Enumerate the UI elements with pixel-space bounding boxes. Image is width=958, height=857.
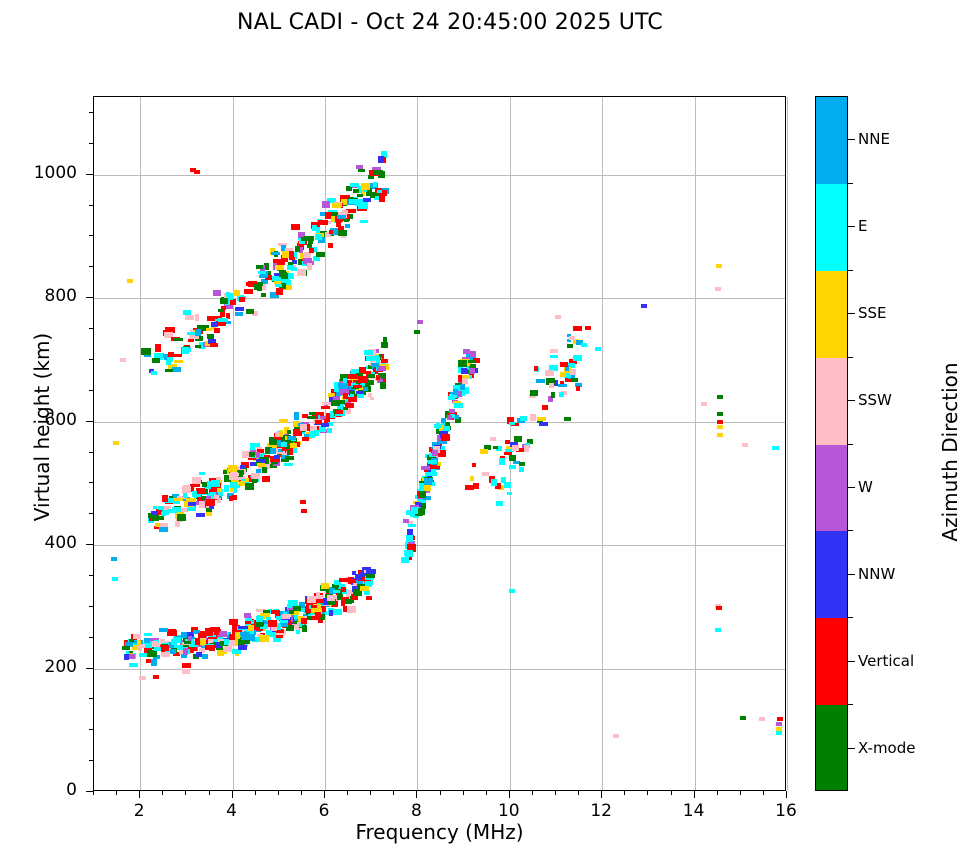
- y-tick: [86, 297, 93, 298]
- data-point: [449, 409, 455, 413]
- data-point: [183, 310, 191, 314]
- data-point: [333, 585, 340, 588]
- data-point: [357, 194, 363, 197]
- data-point: [381, 373, 386, 379]
- colorbar[interactable]: [815, 96, 848, 791]
- x-tick-minor: [393, 791, 394, 795]
- data-point: [512, 445, 520, 451]
- data-point: [275, 284, 282, 287]
- data-point: [152, 358, 160, 362]
- data-point: [381, 359, 388, 363]
- data-point: [313, 256, 320, 261]
- data-point: [777, 717, 783, 721]
- data-point: [536, 379, 545, 383]
- data-point: [514, 436, 523, 442]
- data-point: [493, 446, 498, 449]
- data-point: [256, 616, 263, 622]
- data-point: [257, 463, 264, 467]
- data-point: [345, 599, 352, 604]
- data-point: [259, 275, 267, 278]
- x-tick: [139, 791, 140, 798]
- data-point: [151, 659, 157, 666]
- data-point: [202, 654, 208, 659]
- data-point: [715, 287, 721, 291]
- data-point: [307, 416, 314, 420]
- data-point: [309, 248, 314, 253]
- data-point: [331, 400, 340, 406]
- data-point: [545, 370, 554, 376]
- data-point: [312, 225, 317, 231]
- colorbar-segment-vertical[interactable]: [816, 618, 847, 705]
- data-point: [491, 479, 498, 486]
- data-point: [133, 634, 141, 639]
- data-point: [555, 315, 561, 319]
- y-axis-title: Virtual height (km): [30, 267, 54, 587]
- data-point: [542, 405, 548, 410]
- data-point: [560, 362, 568, 367]
- data-point: [195, 345, 201, 348]
- data-point: [321, 423, 329, 427]
- x-tick-minor: [209, 791, 210, 795]
- data-point: [564, 417, 571, 421]
- data-point: [366, 573, 375, 577]
- data-point: [182, 347, 189, 354]
- data-point: [375, 355, 379, 360]
- y-tick: [86, 791, 93, 792]
- data-point: [329, 230, 333, 234]
- data-point: [315, 612, 321, 618]
- data-point: [519, 462, 525, 466]
- data-point: [309, 412, 316, 416]
- data-point: [151, 515, 159, 522]
- data-point: [172, 367, 181, 372]
- data-point: [322, 402, 331, 405]
- data-point: [182, 663, 191, 668]
- data-point: [185, 315, 193, 319]
- data-point: [279, 430, 283, 436]
- data-point: [717, 425, 723, 429]
- x-axis-title: Frequency (MHz): [93, 820, 786, 844]
- y-tick-minor: [89, 760, 93, 761]
- data-point: [316, 592, 320, 599]
- data-point: [321, 583, 328, 589]
- y-tick-minor: [89, 390, 93, 391]
- data-point: [129, 654, 135, 659]
- data-point: [300, 424, 307, 431]
- y-tick-label: 0: [17, 780, 77, 800]
- data-point: [613, 734, 619, 738]
- data-point: [509, 422, 516, 426]
- data-point: [158, 506, 164, 510]
- data-point: [154, 647, 161, 651]
- data-point: [224, 485, 229, 492]
- data-point: [379, 196, 386, 202]
- data-point: [155, 523, 160, 527]
- x-tick: [509, 791, 510, 798]
- data-point: [366, 569, 376, 574]
- data-point: [262, 467, 268, 473]
- data-point: [366, 596, 372, 600]
- data-point: [378, 156, 383, 163]
- data-point: [211, 480, 220, 487]
- data-point: [327, 428, 332, 433]
- x-tick-minor: [301, 791, 302, 795]
- plot-area[interactable]: [93, 96, 786, 791]
- data-point: [343, 393, 348, 399]
- colorbar-label-x-mode: X-mode: [858, 739, 915, 757]
- ionogram-plot-page: NAL CADI - Oct 24 20:45:00 2025 UTC 2468…: [0, 0, 958, 857]
- x-tick-label: 4: [202, 801, 262, 821]
- data-point: [205, 628, 212, 635]
- colorbar-tick: [848, 400, 855, 401]
- x-tick-minor: [763, 791, 764, 795]
- data-point: [175, 521, 179, 527]
- data-point: [232, 495, 236, 500]
- colorbar-label-nne: NNE: [858, 130, 890, 148]
- colorbar-tick: [848, 748, 855, 749]
- x-tick-label: 2: [109, 801, 169, 821]
- x-tick-minor: [162, 791, 163, 795]
- y-tick: [86, 544, 93, 545]
- data-point: [315, 234, 322, 240]
- data-point: [530, 390, 538, 396]
- data-point: [573, 355, 581, 362]
- data-point: [337, 215, 346, 219]
- data-point: [373, 170, 383, 176]
- x-tick-minor: [532, 791, 533, 795]
- data-point: [595, 347, 601, 351]
- data-point: [431, 469, 436, 475]
- data-point: [473, 483, 479, 489]
- y-tick-minor: [89, 482, 93, 483]
- data-point: [307, 263, 313, 270]
- colorbar-boundary-tick: [848, 704, 853, 705]
- x-tick-minor: [717, 791, 718, 795]
- data-point: [381, 342, 389, 348]
- data-point: [195, 314, 199, 321]
- data-point: [174, 338, 183, 342]
- data-point: [200, 639, 206, 645]
- data-point: [539, 422, 548, 426]
- data-point: [363, 198, 371, 202]
- data-point: [195, 329, 201, 336]
- data-point: [261, 293, 266, 297]
- data-point: [295, 246, 300, 253]
- data-point: [432, 450, 438, 456]
- data-point: [239, 297, 245, 301]
- data-point: [285, 456, 293, 460]
- data-point: [370, 397, 375, 400]
- data-point: [177, 514, 186, 520]
- data-point: [447, 415, 452, 421]
- data-point: [418, 508, 425, 515]
- data-point: [182, 669, 191, 674]
- data-point: [249, 452, 255, 457]
- data-point: [353, 189, 358, 192]
- data-point: [173, 501, 181, 505]
- data-point: [229, 619, 237, 626]
- x-tick-minor: [555, 791, 556, 795]
- data-point: [256, 452, 260, 458]
- data-point: [368, 374, 375, 378]
- data-point: [160, 645, 169, 651]
- data-point: [520, 416, 527, 420]
- data-point: [358, 169, 365, 172]
- data-point: [319, 426, 326, 431]
- data-point: [196, 513, 205, 518]
- data-point: [230, 472, 238, 479]
- data-point: [338, 230, 347, 237]
- data-point: [235, 312, 243, 316]
- x-tick: [694, 791, 695, 798]
- y-tick: [86, 668, 93, 669]
- colorbar-segment-sse[interactable]: [816, 271, 847, 358]
- data-point: [228, 465, 236, 472]
- data-point: [550, 349, 558, 353]
- data-point: [716, 606, 722, 610]
- data-point: [276, 288, 283, 294]
- data-point: [207, 334, 214, 339]
- data-point: [205, 645, 212, 650]
- data-point: [370, 193, 375, 198]
- y-tick-minor: [89, 729, 93, 730]
- data-point: [509, 455, 516, 462]
- data-point: [380, 382, 386, 389]
- x-tick-label: 8: [386, 801, 446, 821]
- data-point: [316, 252, 325, 256]
- data-point: [297, 269, 307, 276]
- data-point: [501, 477, 506, 483]
- data-point: [315, 420, 322, 424]
- data-point: [560, 372, 566, 377]
- y-tick-label: 200: [17, 657, 77, 677]
- data-point: [184, 641, 190, 644]
- data-point: [218, 309, 223, 313]
- x-tick: [324, 791, 325, 798]
- data-point: [405, 553, 413, 557]
- data-point: [537, 417, 546, 421]
- data-point: [285, 248, 293, 252]
- data-point: [366, 356, 375, 361]
- data-point: [509, 465, 517, 469]
- x-tick-minor: [647, 791, 648, 795]
- data-point: [287, 430, 292, 434]
- data-point: [469, 368, 475, 374]
- data-point: [742, 443, 748, 447]
- x-tick-minor: [278, 791, 279, 795]
- data-point: [287, 436, 296, 440]
- data-point: [153, 675, 159, 679]
- data-point: [759, 717, 765, 721]
- data-point: [251, 473, 259, 479]
- data-point: [550, 355, 558, 359]
- data-point: [454, 403, 463, 408]
- y-tick-minor: [89, 575, 93, 576]
- data-point: [210, 343, 218, 348]
- data-point: [772, 446, 778, 450]
- data-point: [301, 509, 307, 513]
- data-point: [424, 478, 432, 485]
- colorbar-boundary-tick: [848, 530, 853, 531]
- colorbar-segment-nnw[interactable]: [816, 531, 847, 618]
- data-point: [159, 516, 164, 520]
- x-tick-label: 14: [664, 801, 724, 821]
- data-point: [458, 360, 467, 367]
- data-point: [262, 476, 270, 482]
- colorbar-segment-w[interactable]: [816, 445, 847, 532]
- colorbar-tick: [848, 313, 855, 314]
- x-tick-minor: [578, 791, 579, 795]
- y-tick-minor: [89, 205, 93, 206]
- data-point: [218, 318, 228, 323]
- data-point: [496, 501, 503, 506]
- x-tick: [232, 791, 233, 798]
- data-point: [414, 330, 420, 334]
- data-point: [322, 201, 330, 208]
- data-point: [371, 363, 380, 366]
- data-point: [274, 455, 279, 458]
- data-point: [186, 498, 196, 502]
- data-point: [112, 577, 118, 581]
- data-point: [344, 219, 349, 222]
- data-point: [321, 406, 330, 409]
- y-tick-minor: [89, 637, 93, 638]
- colorbar-boundary-tick: [848, 617, 853, 618]
- data-point: [122, 646, 130, 651]
- data-point: [401, 557, 408, 563]
- data-point: [238, 645, 247, 650]
- data-point: [469, 351, 475, 357]
- y-tick-minor: [89, 235, 93, 236]
- data-point: [468, 360, 476, 364]
- data-point: [140, 644, 145, 647]
- x-tick-minor: [255, 791, 256, 795]
- x-tick-minor: [370, 791, 371, 795]
- data-point: [490, 437, 496, 441]
- data-point: [241, 636, 249, 641]
- data-point: [211, 322, 219, 327]
- colorbar-segment-ssw[interactable]: [816, 358, 847, 445]
- data-point: [434, 424, 442, 428]
- data-point: [291, 224, 300, 230]
- data-point: [217, 650, 224, 657]
- colorbar-segment-nne[interactable]: [816, 97, 847, 184]
- data-point: [571, 378, 578, 382]
- data-point: [567, 344, 573, 348]
- data-point: [350, 183, 359, 187]
- colorbar-segment-e[interactable]: [816, 184, 847, 271]
- data-point: [188, 339, 193, 342]
- data-point: [776, 722, 782, 726]
- data-point: [183, 648, 189, 655]
- data-point: [275, 432, 279, 437]
- data-point: [192, 477, 201, 484]
- data-point: [199, 472, 205, 476]
- data-point: [360, 220, 368, 223]
- data-point: [499, 458, 505, 465]
- data-point: [585, 326, 591, 330]
- data-point: [364, 350, 373, 355]
- data-point: [460, 384, 465, 389]
- data-point: [269, 439, 277, 445]
- x-tick: [601, 791, 602, 798]
- data-point: [423, 484, 431, 491]
- data-point: [329, 610, 334, 616]
- data-point: [206, 499, 215, 506]
- data-point: [289, 257, 295, 260]
- colorbar-tick: [848, 487, 855, 488]
- data-point: [260, 635, 269, 642]
- data-point: [345, 224, 350, 227]
- data-point: [358, 376, 368, 383]
- data-point: [245, 483, 254, 490]
- data-point: [353, 385, 362, 389]
- data-point: [472, 463, 476, 468]
- data-point: [333, 609, 342, 614]
- gridline-vertical: [787, 97, 788, 790]
- colorbar-boundary-tick: [848, 444, 853, 445]
- data-point: [294, 412, 299, 419]
- data-point: [144, 638, 150, 643]
- data-point: [335, 410, 342, 415]
- data-point: [206, 512, 212, 516]
- colorbar-label-ssw: SSW: [858, 391, 892, 409]
- data-point: [333, 590, 340, 593]
- data-point: [290, 443, 298, 448]
- data-point: [333, 396, 340, 401]
- x-tick-minor: [486, 791, 487, 795]
- data-point: [482, 472, 488, 477]
- colorbar-segment-x-mode[interactable]: [816, 705, 847, 791]
- x-tick-minor: [440, 791, 441, 795]
- data-point: [217, 488, 222, 492]
- data-point: [162, 495, 168, 502]
- data-point: [347, 374, 356, 379]
- data-point: [127, 279, 133, 283]
- data-point: [302, 625, 307, 632]
- y-tick-minor: [89, 359, 93, 360]
- data-point: [256, 265, 262, 269]
- data-point: [408, 524, 416, 527]
- data-point: [206, 328, 212, 332]
- y-tick-minor: [89, 328, 93, 329]
- data-point: [363, 387, 368, 391]
- data-point: [345, 403, 354, 409]
- data-point: [361, 183, 369, 190]
- data-point: [314, 430, 319, 436]
- data-point: [717, 412, 723, 416]
- data-point: [279, 419, 287, 423]
- x-tick-label: 6: [294, 801, 354, 821]
- data-point: [165, 369, 172, 372]
- data-point: [307, 596, 316, 602]
- data-point: [421, 466, 431, 470]
- data-point: [287, 265, 295, 270]
- x-tick-label: 16: [756, 801, 816, 821]
- data-point: [207, 481, 212, 487]
- data-point: [641, 304, 647, 308]
- y-tick-minor: [89, 452, 93, 453]
- data-point: [570, 370, 576, 375]
- data-point: [244, 289, 253, 294]
- data-point: [534, 366, 538, 371]
- data-point: [159, 527, 168, 531]
- data-point: [147, 650, 157, 657]
- data-point: [254, 284, 262, 290]
- data-point: [356, 165, 363, 168]
- data-point: [569, 336, 575, 340]
- data-point: [339, 578, 348, 582]
